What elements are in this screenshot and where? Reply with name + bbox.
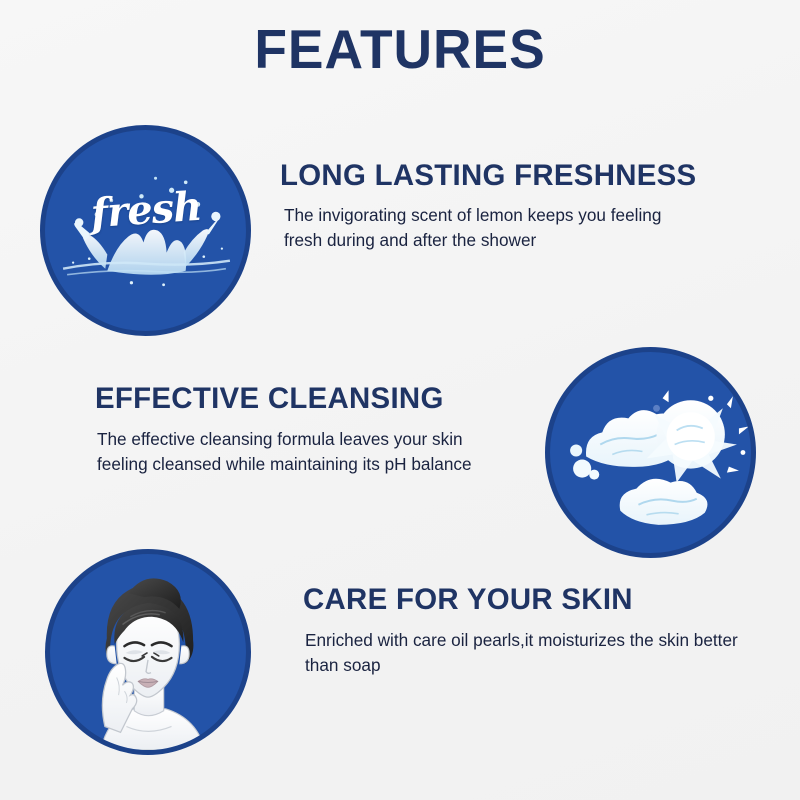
features-infographic: FEATURES — [0, 0, 800, 800]
feature-heading-skincare: CARE FOR YOUR SKIN — [303, 584, 633, 616]
soap-foam-lather-icon — [550, 352, 751, 553]
feature-body-skincare: Enriched with care oil pearls,it moistur… — [305, 628, 755, 678]
woman-touching-face-icon — [50, 554, 246, 750]
feature-icon-circle-freshness: fresh — [40, 125, 251, 336]
page-title: FEATURES — [12, 22, 788, 77]
water-splash-fresh-icon — [45, 130, 246, 331]
feature-heading-freshness: LONG LASTING FRESHNESS — [280, 160, 696, 192]
feature-icon-circle-skincare — [45, 549, 251, 755]
feature-body-freshness: The invigorating scent of lemon keeps yo… — [284, 203, 704, 253]
feature-body-cleansing: The effective cleansing formula leaves y… — [97, 427, 492, 477]
feature-icon-circle-cleansing — [545, 347, 756, 558]
feature-heading-cleansing: EFFECTIVE CLEANSING — [95, 383, 444, 415]
